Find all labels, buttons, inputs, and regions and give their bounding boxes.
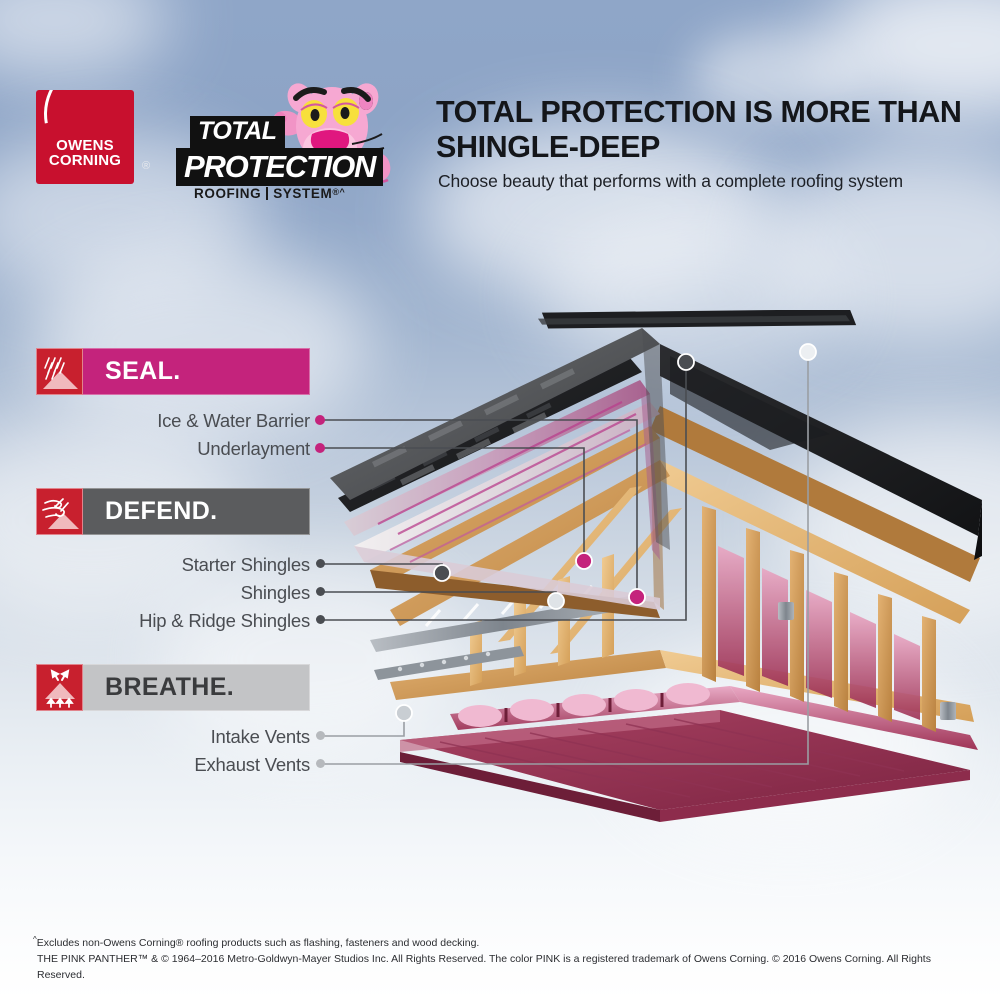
label-dot-hip-ridge-shingles	[316, 615, 325, 624]
airflow-ventilation-icon	[36, 664, 83, 711]
label-dot-intake-vents	[316, 731, 325, 740]
owens-corning-logo: OWENS CORNING	[36, 90, 134, 184]
exploded-roof-illustration	[330, 310, 990, 830]
logo-roofing-text: ROOFING	[194, 186, 261, 201]
callout-label-hip-ridge-shingles: Hip & Ridge Shingles	[50, 611, 310, 631]
callout-text: Shingles	[241, 582, 310, 603]
logo-protection-text: PROTECTION	[176, 148, 383, 186]
label-dot-ice-water-barrier	[315, 415, 325, 425]
logo-divider	[266, 187, 268, 200]
label-dot-starter-shingles	[316, 559, 325, 568]
logo-line-owens: OWENS	[36, 138, 134, 153]
callout-text: Intake Vents	[211, 726, 310, 747]
callout-label-exhaust-vents: Exhaust Vents	[50, 755, 310, 775]
footer-line-1: ^Excludes non-Owens Corning® roofing pro…	[33, 932, 973, 951]
registered-mark: ®	[142, 160, 150, 172]
callout-label-ice-water-barrier: Ice & Water Barrier	[50, 411, 310, 431]
label-dot-exhaust-vents	[316, 759, 325, 768]
callout-label-shingles: Shingles	[50, 583, 310, 603]
callout-label-underlayment: Underlayment	[50, 439, 310, 459]
logo-registered-mark: ®^	[332, 187, 345, 197]
logo-wordmark: OWENS CORNING	[36, 138, 134, 168]
label-dot-shingles	[316, 587, 325, 596]
category-badge-seal[interactable]: SEAL.	[36, 348, 310, 395]
logo-tagline: ROOFINGSYSTEM®^	[194, 186, 345, 201]
footer-line-2: THE PINK PANTHER™ & © 1964–2016 Metro-Go…	[33, 951, 973, 983]
label-dot-underlayment	[315, 443, 325, 453]
wind-on-roof-icon	[36, 488, 83, 535]
category-label-breathe: BREATHE.	[83, 664, 310, 711]
infographic-canvas: OWENS CORNING ®	[0, 0, 1000, 1000]
logo-line-corning: CORNING	[36, 153, 134, 168]
category-badge-defend[interactable]: DEFEND.	[36, 488, 310, 535]
logo-system-text: SYSTEM	[273, 186, 332, 201]
callout-text: Underlayment	[197, 438, 310, 459]
rain-on-roof-icon	[36, 348, 83, 395]
callout-label-starter-shingles: Starter Shingles	[50, 555, 310, 575]
callout-text: Hip & Ridge Shingles	[139, 610, 310, 631]
hip-ridge-shingles-layer	[538, 310, 856, 331]
total-protection-logo: TOTAL PROTECTION ROOFINGSYSTEM®^	[172, 86, 412, 198]
page-title: TOTAL PROTECTION IS MORE THAN SHINGLE-DE…	[436, 95, 976, 165]
category-label-defend: DEFEND.	[83, 488, 310, 535]
callout-label-intake-vents: Intake Vents	[50, 727, 310, 747]
callout-text: Starter Shingles	[182, 554, 310, 575]
callout-text: Ice & Water Barrier	[157, 410, 310, 431]
page-subtitle: Choose beauty that performs with a compl…	[438, 170, 998, 192]
category-badge-breathe[interactable]: BREATHE.	[36, 664, 310, 711]
category-label-seal: SEAL.	[83, 348, 310, 395]
footer-line-1-text: Excludes non-Owens Corning® roofing prod…	[37, 937, 480, 949]
footer-disclaimer: ^Excludes non-Owens Corning® roofing pro…	[33, 932, 973, 983]
logo-total-text: TOTAL	[190, 116, 285, 148]
callout-text: Exhaust Vents	[194, 754, 310, 775]
